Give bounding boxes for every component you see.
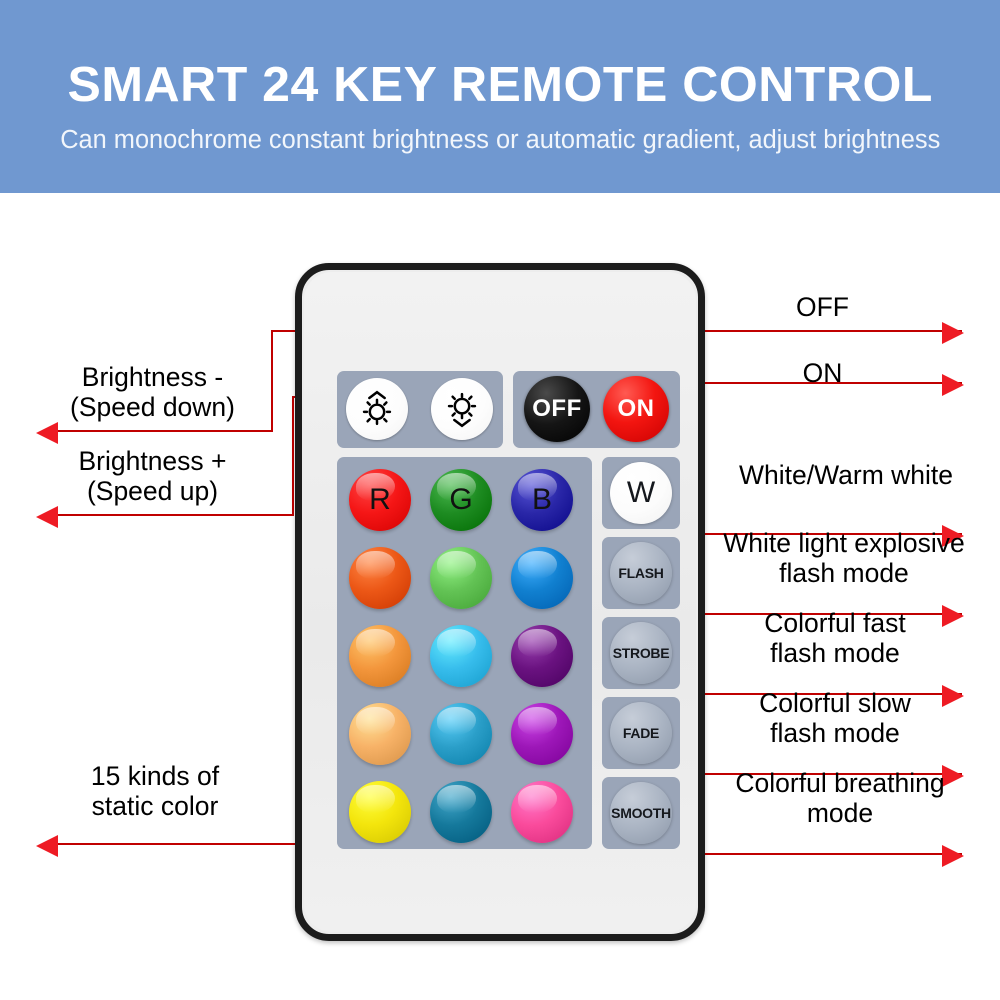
white-callout: White/Warm white xyxy=(700,460,992,490)
color-button-15[interactable] xyxy=(511,781,573,843)
fade-button-label: FADE xyxy=(623,725,659,741)
power-pad: OFF ON xyxy=(513,371,680,448)
header-banner: SMART 24 KEY REMOTE CONTROL Can monochro… xyxy=(0,0,1000,193)
page-subtitle: Can monochrome constant brightness or au… xyxy=(60,126,940,155)
flash-button[interactable]: FLASH xyxy=(610,542,672,604)
callout-arrow xyxy=(36,422,58,444)
color-button-8[interactable] xyxy=(430,625,492,687)
fade-callout: Colorful slow flash mode xyxy=(700,688,970,748)
callout-arrow xyxy=(942,845,964,867)
callout-line xyxy=(292,396,294,516)
color-button-label-B: B xyxy=(532,483,552,517)
button-gloss xyxy=(356,551,394,579)
button-gloss xyxy=(437,551,475,579)
callout-line xyxy=(683,853,962,855)
brightness-pad xyxy=(337,371,503,448)
on-button[interactable]: ON xyxy=(603,376,669,442)
static-color-callout: 15 kinds of static color xyxy=(30,761,280,821)
color-button-2[interactable]: G xyxy=(430,469,492,531)
off-button-label: OFF xyxy=(532,395,582,423)
button-gloss xyxy=(518,551,556,579)
color-button-13[interactable] xyxy=(349,781,411,843)
button-gloss xyxy=(518,707,556,735)
callout-arrow xyxy=(942,322,964,344)
on-button-label: ON xyxy=(618,395,655,423)
strobe-mode-pad: STROBE xyxy=(602,617,680,689)
strobe-callout: Colorful fast flash mode xyxy=(700,608,970,668)
flash-callout: White light explosive flash mode xyxy=(694,528,994,588)
brightness-down-callout: Brightness - (Speed down) xyxy=(30,362,275,422)
smooth-button[interactable]: SMOOTH xyxy=(610,782,672,844)
fade-button[interactable]: FADE xyxy=(610,702,672,764)
white-mode-pad: W xyxy=(602,457,680,529)
color-grid-pad: RGB xyxy=(337,457,592,849)
callout-arrow xyxy=(36,506,58,528)
smooth-mode-pad: SMOOTH xyxy=(602,777,680,849)
strobe-button-label: STROBE xyxy=(613,645,670,661)
page-title: SMART 24 KEY REMOTE CONTROL xyxy=(67,61,932,110)
button-gloss xyxy=(356,707,394,735)
color-button-9[interactable] xyxy=(511,625,573,687)
sun-down-icon xyxy=(439,386,485,432)
color-button-12[interactable] xyxy=(511,703,573,765)
color-button-1[interactable]: R xyxy=(349,469,411,531)
flash-mode-pad: FLASH xyxy=(602,537,680,609)
color-button-7[interactable] xyxy=(349,625,411,687)
off-button[interactable]: OFF xyxy=(524,376,590,442)
color-button-label-G: G xyxy=(449,483,472,517)
brightness-down-button[interactable] xyxy=(431,378,493,440)
callout-line xyxy=(44,514,294,516)
smooth-button-label: SMOOTH xyxy=(611,805,671,821)
color-button-5[interactable] xyxy=(430,547,492,609)
brightness-up-callout: Brightness + (Speed up) xyxy=(30,446,275,506)
fade-mode-pad: FADE xyxy=(602,697,680,769)
strobe-button[interactable]: STROBE xyxy=(610,622,672,684)
callout-arrow xyxy=(942,374,964,396)
callout-arrow xyxy=(36,835,58,857)
color-button-3[interactable]: B xyxy=(511,469,573,531)
button-gloss xyxy=(437,785,475,813)
remote-faceplate: OFF ON RGB W FLASH xyxy=(304,272,696,932)
flash-button-label: FLASH xyxy=(618,565,663,581)
page-root: SMART 24 KEY REMOTE CONTROL Can monochro… xyxy=(0,0,1000,1000)
button-gloss xyxy=(518,785,556,813)
button-gloss xyxy=(356,785,394,813)
color-button-label-R: R xyxy=(369,483,391,517)
smooth-callout: Colorful breathing mode xyxy=(700,768,980,828)
color-button-6[interactable] xyxy=(511,547,573,609)
button-gloss xyxy=(356,629,394,657)
button-gloss xyxy=(518,629,556,657)
color-button-10[interactable] xyxy=(349,703,411,765)
color-button-11[interactable] xyxy=(430,703,492,765)
on-callout: ON xyxy=(700,358,945,388)
white-button-label: W xyxy=(627,476,655,510)
button-gloss xyxy=(437,629,475,657)
button-gloss xyxy=(437,707,475,735)
sun-up-icon xyxy=(354,386,400,432)
callout-line xyxy=(44,843,332,845)
brightness-up-button[interactable] xyxy=(346,378,408,440)
white-button[interactable]: W xyxy=(610,462,672,524)
off-callout: OFF xyxy=(700,292,945,322)
remote-control-device: OFF ON RGB W FLASH xyxy=(295,263,705,941)
color-button-14[interactable] xyxy=(430,781,492,843)
color-button-4[interactable] xyxy=(349,547,411,609)
callout-line xyxy=(44,430,273,432)
